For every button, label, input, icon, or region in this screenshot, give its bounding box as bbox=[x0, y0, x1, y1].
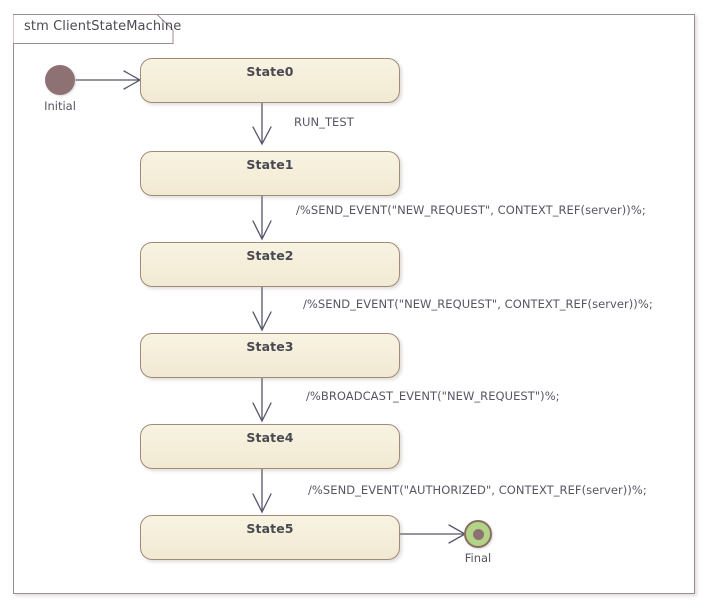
state-label: State4 bbox=[141, 430, 399, 445]
state-node-state5[interactable]: State5 bbox=[140, 515, 400, 560]
state-label: State2 bbox=[141, 248, 399, 263]
state-label: State0 bbox=[141, 64, 399, 79]
initial-pseudostate[interactable] bbox=[45, 65, 75, 95]
transition-label-state3-state4: /%BROADCAST_EVENT("NEW_REQUEST")%; bbox=[306, 389, 560, 403]
transition-label-run-test: RUN_TEST bbox=[294, 115, 354, 129]
initial-node-caption: Initial bbox=[20, 99, 100, 113]
state-label: State3 bbox=[141, 339, 399, 354]
state-node-state2[interactable]: State2 bbox=[140, 242, 400, 287]
final-state-dot bbox=[473, 529, 484, 540]
final-state[interactable] bbox=[464, 520, 492, 548]
state-node-state1[interactable]: State1 bbox=[140, 151, 400, 196]
state-node-state0[interactable]: State0 bbox=[140, 58, 400, 103]
transition-label-state4-state5: /%SEND_EVENT("AUTHORIZED", CONTEXT_REF(s… bbox=[308, 483, 647, 497]
transition-label-state1-state2: /%SEND_EVENT("NEW_REQUEST", CONTEXT_REF(… bbox=[296, 203, 646, 217]
transition-label-state2-state3: /%SEND_EVENT("NEW_REQUEST", CONTEXT_REF(… bbox=[303, 297, 653, 311]
state-node-state3[interactable]: State3 bbox=[140, 333, 400, 378]
page-title: stm ClientStateMachine bbox=[24, 19, 181, 34]
state-label: State1 bbox=[141, 157, 399, 172]
state-label: State5 bbox=[141, 521, 399, 536]
state-node-state4[interactable]: State4 bbox=[140, 424, 400, 469]
diagram-canvas: stm ClientStateMachine bbox=[0, 0, 713, 612]
final-node-caption: Final bbox=[438, 551, 518, 565]
